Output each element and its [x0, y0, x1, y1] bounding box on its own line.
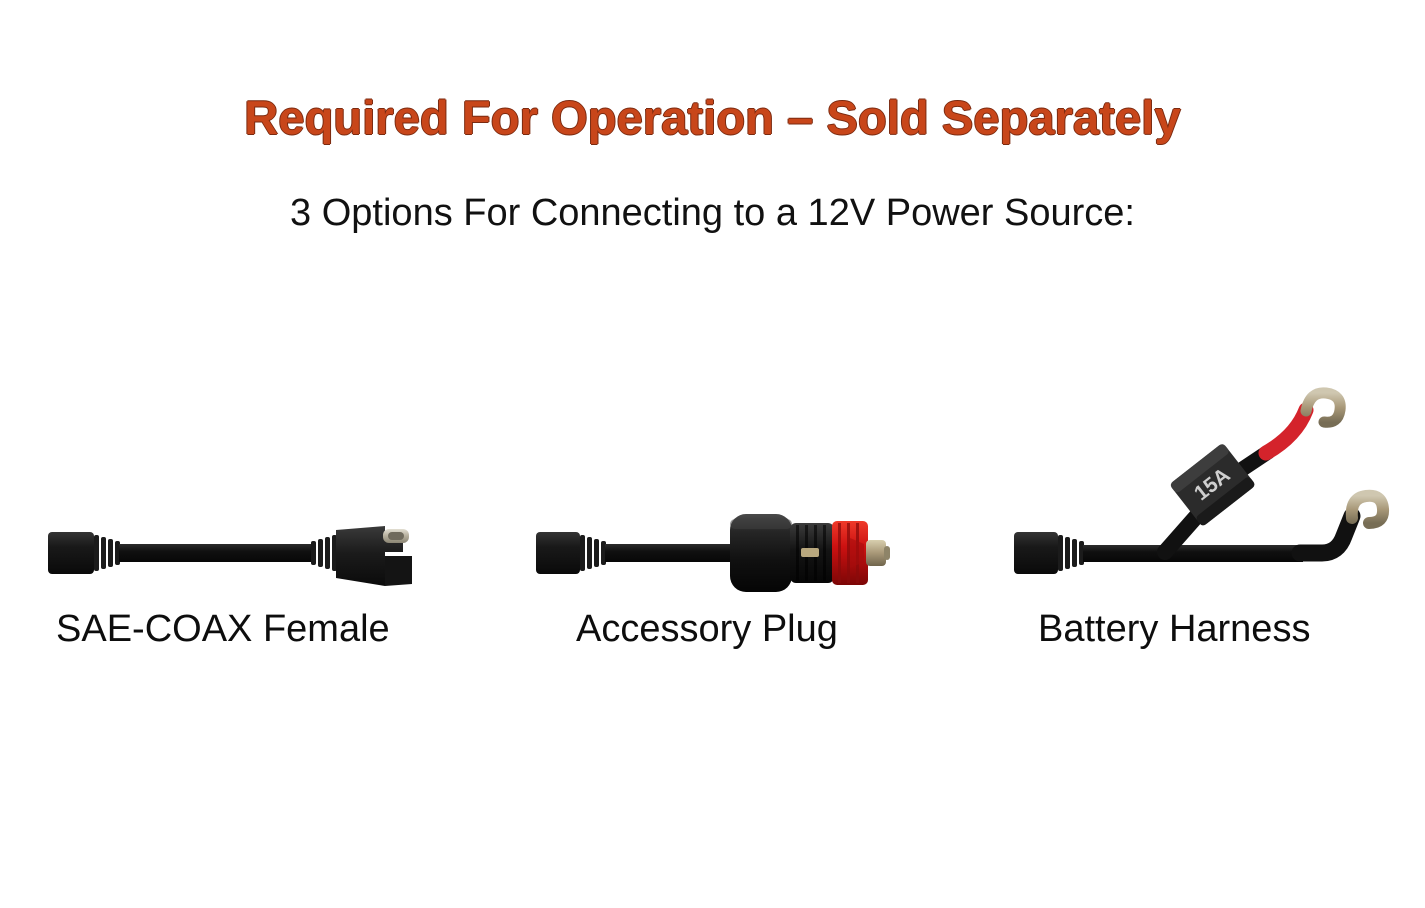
battery-harness-icon: 15A — [1000, 380, 1400, 605]
product-label-sae-coax-female: SAE-COAX Female — [20, 608, 450, 651]
page-title: Required For Operation – Sold Separately — [0, 90, 1425, 145]
page-subtitle: 3 Options For Connecting to a 12V Power … — [0, 192, 1425, 235]
sae-coax-female-connector-icon — [20, 380, 450, 605]
product-card-sae-coax-female: SAE-COAX Female — [20, 380, 450, 670]
product-label-battery-harness: Battery Harness — [1000, 608, 1400, 651]
accessory-plug-icon — [520, 380, 920, 605]
product-card-accessory-plug: Accessory Plug — [520, 380, 920, 670]
product-label-accessory-plug: Accessory Plug — [520, 608, 920, 651]
product-card-battery-harness: 15A Battery Harness — [1000, 380, 1400, 670]
infographic-page: Required For Operation – Sold Separately… — [0, 0, 1425, 908]
